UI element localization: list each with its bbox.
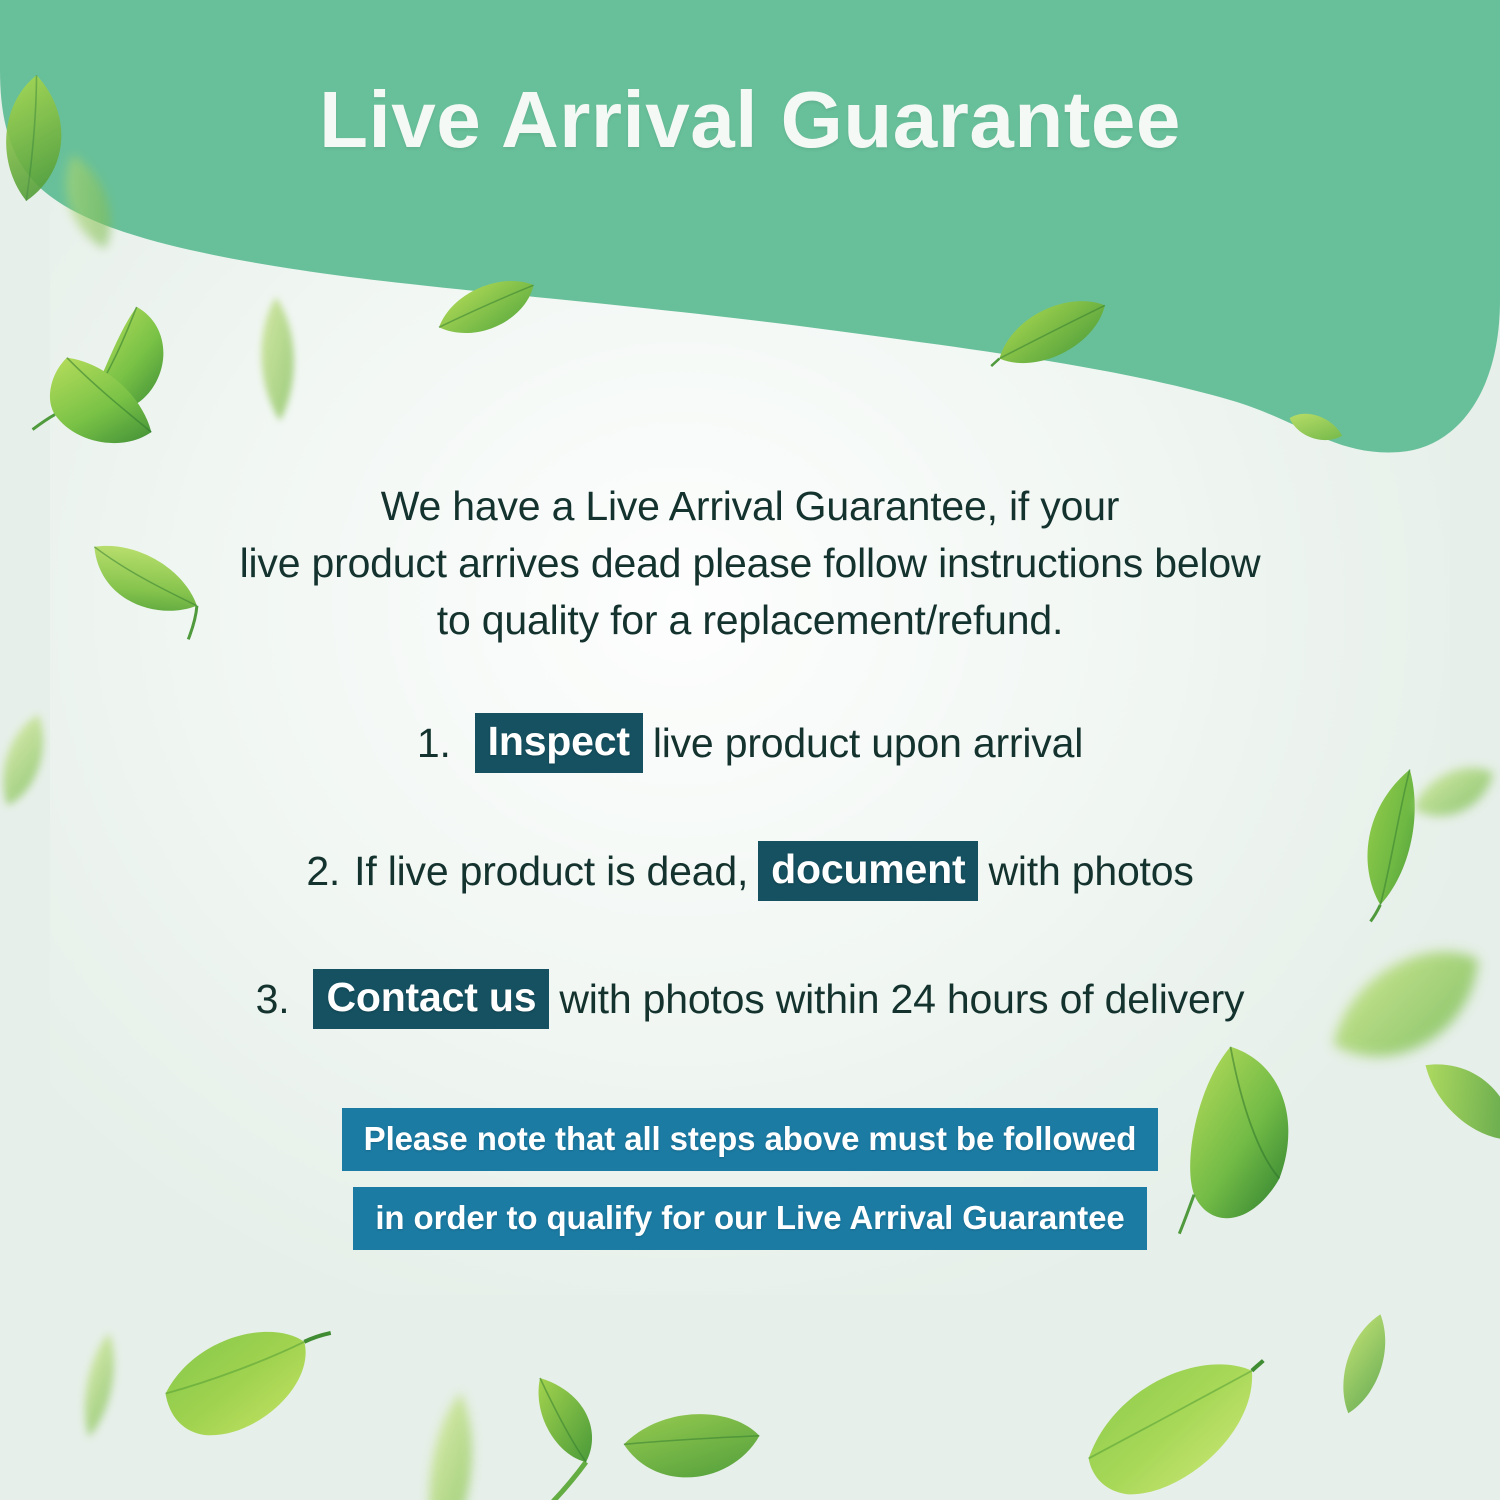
step-number: 3. [256, 976, 290, 1023]
footer-note-block: Please note that all steps above must be… [0, 1108, 1500, 1250]
leaf-icon [151, 1314, 339, 1451]
leaf-icon [67, 1327, 131, 1443]
step-item-2: 2. If live product is dead, document wit… [0, 828, 1500, 914]
leaf-icon [500, 1370, 630, 1500]
step-item-1: 1. Inspect live product upon arrival [0, 700, 1500, 786]
steps-list: 1. Inspect live product upon arrival 2. … [0, 700, 1500, 1042]
step-badge-document: document [758, 841, 978, 901]
note-bar-line-2: in order to qualify for our Live Arrival… [353, 1187, 1146, 1250]
leaf-icon [1315, 1302, 1416, 1428]
live-arrival-guarantee-poster: Live Arrival Guarantee [0, 0, 1500, 1500]
step-text: live product upon arrival [653, 720, 1083, 767]
step-badge-inspect: Inspect [475, 713, 643, 773]
intro-line-3: to quality for a replacement/refund. [0, 592, 1500, 649]
intro-line-1: We have a Live Arrival Guarantee, if you… [0, 478, 1500, 535]
intro-paragraph: We have a Live Arrival Guarantee, if you… [0, 478, 1500, 649]
step-text: with photos within 24 hours of delivery [559, 976, 1244, 1023]
leaf-icon [607, 1388, 774, 1500]
page-title: Live Arrival Guarantee [0, 74, 1500, 166]
step-item-3: 3. Contact us with photos within 24 hour… [0, 956, 1500, 1042]
step-badge-contact-us: Contact us [313, 969, 549, 1029]
header-green-blob [0, 0, 1500, 470]
leaf-icon [1063, 1339, 1286, 1500]
step-text: with photos [988, 848, 1193, 895]
step-number: 1. [417, 720, 451, 767]
step-number: 2. [306, 848, 340, 895]
intro-line-2: live product arrives dead please follow … [0, 535, 1500, 592]
note-bar-line-1: Please note that all steps above must be… [342, 1108, 1159, 1171]
leaf-icon [404, 1386, 497, 1500]
step-text-pre: If live product is dead, [354, 848, 748, 895]
